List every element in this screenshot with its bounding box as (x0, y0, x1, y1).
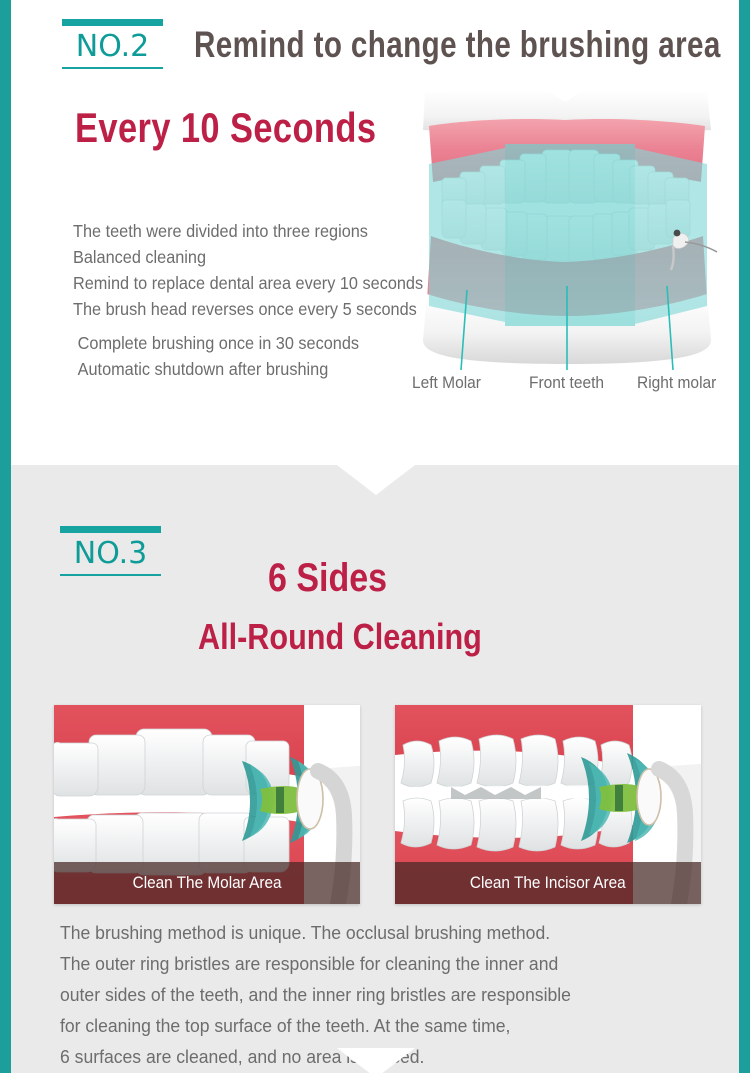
region-highlights (429, 144, 707, 326)
panel-clean-molar-area[interactable]: Clean The Molar Area (54, 705, 360, 904)
section-no2: NO.2 Remind to change the brushing area … (11, 0, 739, 465)
badge-top-bar (60, 526, 161, 533)
badge-no3-label: NO.3 (60, 533, 161, 574)
section-divider-notch (337, 465, 415, 495)
paragraph-line: outer sides of the teeth, and the inner … (60, 979, 687, 1010)
label-front-teeth: Front teeth (529, 374, 604, 393)
badge-no2-label: NO.2 (62, 26, 163, 67)
badge-top-bar (62, 19, 163, 26)
badge-bottom-bar (62, 67, 163, 69)
panel-caption-text: Clean The Incisor Area (470, 862, 626, 904)
badge-bottom-bar (60, 574, 161, 576)
infographic-page: NO.2 Remind to change the brushing area … (0, 0, 750, 1073)
right-teal-rail (739, 0, 750, 1073)
panel-clean-incisor-area[interactable]: Clean The Incisor Area (395, 705, 701, 904)
bottom-divider-notch (337, 1048, 415, 1078)
six-sides-heading: 6 Sides (268, 554, 387, 602)
bullet-line: Remind to replace dental area every 10 s… (73, 270, 408, 296)
bullet-line: The brush head reverses once every 5 sec… (73, 296, 408, 322)
bullet-line: Automatic shutdown after brushing (73, 356, 408, 382)
label-right-molar: Right molar (637, 374, 716, 393)
paragraph-line: The outer ring bristles are responsible … (60, 948, 687, 979)
cleaning-image-panels: Clean The Molar Area (0, 705, 750, 905)
bullet-line: The teeth were divided into three region… (73, 218, 408, 244)
badge-no3: NO.3 (60, 526, 161, 576)
paragraph-line: for cleaning the top surface of the teet… (60, 1010, 687, 1041)
bullet-line: Complete brushing once in 30 seconds (73, 330, 408, 356)
region-label-row: Left Molar Front teeth Right molar (407, 374, 727, 402)
bullet-line: Balanced cleaning (73, 244, 408, 270)
paragraph-line: The brushing method is unique. The occlu… (60, 917, 687, 948)
left-teal-rail (0, 0, 11, 1073)
section-no2-title: Remind to change the brushing area (194, 22, 721, 68)
panel-caption: Clean The Molar Area (54, 862, 360, 904)
panel-caption-text: Clean The Molar Area (132, 862, 281, 904)
badge-no2: NO.2 (62, 19, 163, 69)
front-teeth-region (505, 144, 635, 326)
feature-bullet-list: The teeth were divided into three region… (73, 218, 433, 382)
all-round-heading: All-Round Cleaning (198, 615, 482, 659)
panel-caption: Clean The Incisor Area (395, 862, 701, 904)
every-10-seconds-heading: Every 10 Seconds (75, 103, 376, 153)
label-left-molar: Left Molar (412, 374, 481, 393)
right-molar-region (635, 148, 707, 324)
dental-model-illustration (415, 86, 720, 371)
